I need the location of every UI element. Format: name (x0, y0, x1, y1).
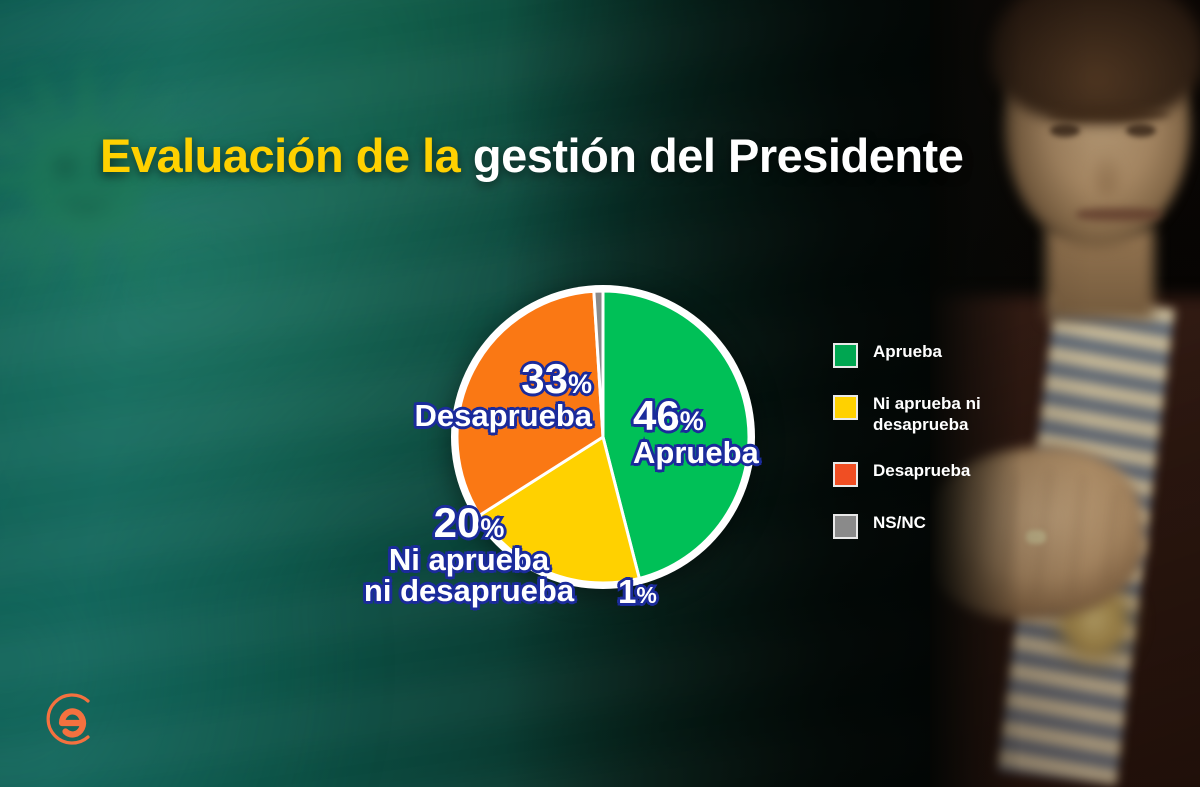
legend-swatch-nsnc (833, 514, 858, 539)
legend-item-ni-aprueba-ni-desaprueba[interactable]: Ni aprueba ni desaprueba (833, 394, 1063, 435)
legend-label-aprueba: Aprueba (873, 342, 942, 363)
pie-value-ni: 20 (434, 499, 481, 546)
infographic-canvas: Evaluación de la gestión del Presidente … (0, 0, 1200, 787)
pie-percent-symbol: % (480, 513, 504, 543)
pie-percent-symbol: % (680, 406, 704, 436)
legend-label-ni-aprueba-ni-desaprueba: Ni aprueba ni desaprueba (873, 394, 981, 435)
legend-item-desaprueba[interactable]: Desaprueba (833, 461, 1063, 487)
page-title: Evaluación de la gestión del Presidente (100, 128, 963, 183)
legend-item-aprueba[interactable]: Aprueba (833, 342, 1063, 368)
pie-name-ni-line1: Ni aprueba (336, 544, 602, 575)
legend-swatch-desaprueba (833, 462, 858, 487)
pie-percent-symbol: % (568, 369, 592, 399)
title-highlight: Evaluación de la (100, 129, 460, 182)
legend-label-nsnc: NS/NC (873, 513, 926, 534)
chart-legend: Aprueba Ni aprueba ni desaprueba Desapru… (833, 342, 1063, 539)
legend-label-line1: Ni aprueba ni (873, 394, 981, 413)
pie-label-nsnc: 1% (618, 575, 657, 608)
pie-label-desaprueba: 33% Desaprueba (374, 358, 592, 431)
pie-name-desaprueba: Desaprueba (374, 400, 592, 431)
legend-label-line1: NS/NC (873, 513, 926, 532)
legend-label-line2: desaprueba (873, 415, 981, 436)
title-plain: gestión del Presidente (460, 129, 963, 182)
pie-value-desaprueba: 33 (521, 355, 568, 402)
pie-name-aprueba: Aprueba (633, 437, 759, 468)
pie-value-aprueba: 46 (633, 392, 680, 439)
brand-logo[interactable] (40, 688, 102, 750)
legend-item-nsnc[interactable]: NS/NC (833, 513, 1063, 539)
legend-label-line1: Desaprueba (873, 461, 970, 480)
legend-label-line1: Aprueba (873, 342, 942, 361)
pie-value-nsnc: 1 (618, 573, 636, 610)
pie-percent-symbol: % (636, 582, 656, 608)
legend-swatch-ni-aprueba-ni-desaprueba (833, 395, 858, 420)
pie-label-ni-aprueba-ni-desaprueba: 20% Ni aprueba ni desaprueba (336, 502, 602, 606)
pie-name-ni-line2: ni desaprueba (336, 575, 602, 606)
legend-swatch-aprueba (833, 343, 858, 368)
legend-label-desaprueba: Desaprueba (873, 461, 970, 482)
pie-label-aprueba: 46% Aprueba (633, 395, 759, 468)
